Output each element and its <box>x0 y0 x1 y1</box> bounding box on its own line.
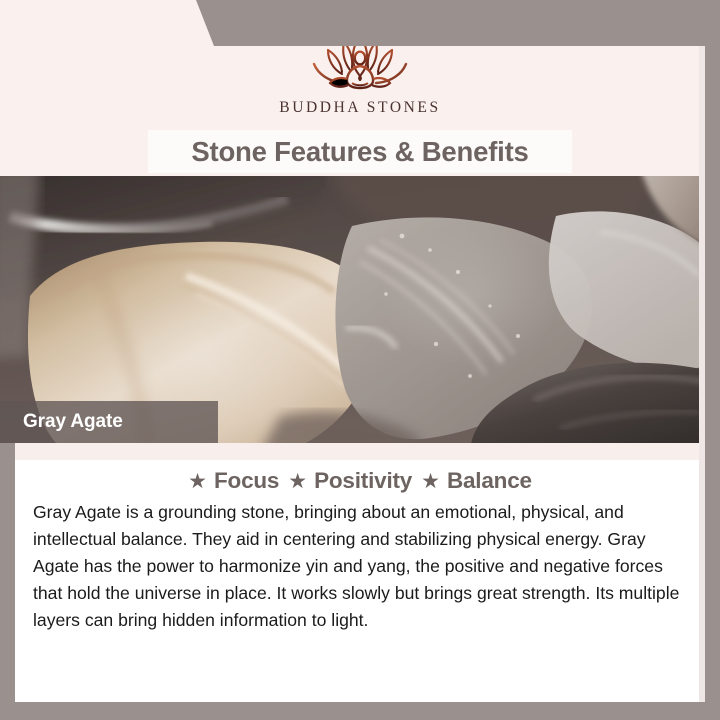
keyword-list: ★ Focus ★ Positivity ★ Balance <box>15 460 705 494</box>
keyword-label: Focus <box>214 468 279 494</box>
keyword-item-focus: ★ Focus <box>188 468 279 494</box>
star-icon: ★ <box>188 471 207 492</box>
frame-left-accent <box>0 443 15 720</box>
frame-bottom-accent <box>0 702 720 720</box>
section-title-banner: Stone Features & Benefits <box>148 130 572 173</box>
keyword-item-balance: ★ Balance <box>421 468 532 494</box>
keyword-item-positivity: ★ Positivity <box>288 468 412 494</box>
stone-name-label: Gray Agate <box>23 411 123 433</box>
brand-wordmark: BUDDHA STONES <box>279 99 440 117</box>
keyword-label: Positivity <box>314 468 412 494</box>
page-title: Stone Features & Benefits <box>191 136 528 168</box>
content-panel: ★ Focus ★ Positivity ★ Balance Gray Agat… <box>15 460 705 702</box>
frame-right-accent <box>705 38 720 720</box>
photo-caption-band: Gray Agate <box>0 401 218 443</box>
keyword-label: Balance <box>447 468 532 494</box>
stone-description: Gray Agate is a grounding stone, bringin… <box>33 499 687 634</box>
content-top-strip <box>15 443 705 460</box>
product-info-card: BUDDHA STONES Stone Features & Benefits <box>0 0 720 720</box>
stone-photo: Gray Agate <box>0 176 705 443</box>
star-icon: ★ <box>288 471 307 492</box>
star-icon: ★ <box>421 471 440 492</box>
